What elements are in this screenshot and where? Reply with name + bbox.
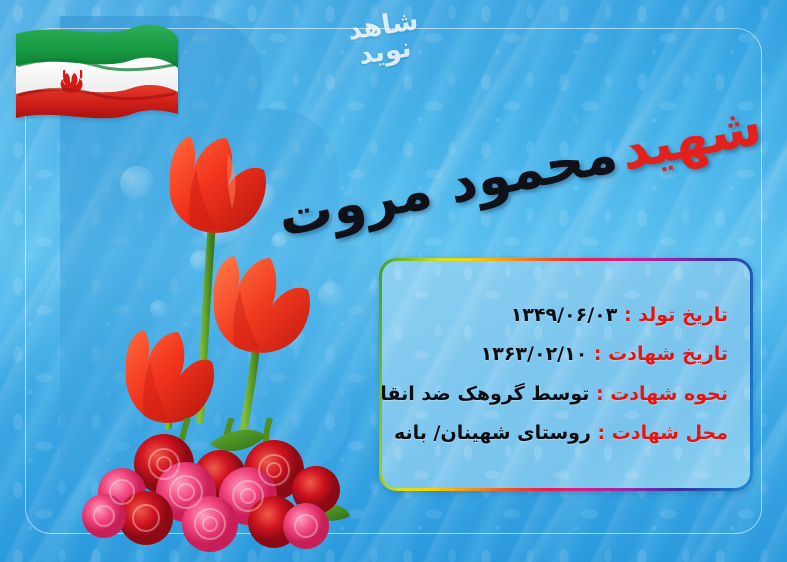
label-martyrdom-place: محل شهادت : [598,422,728,444]
info-row-birth-date: تاریخ تولد : ۱۳۴۹/۰۶/۰۳ [396,297,734,334]
info-row-martyrdom-date: تاریخ شهادت : ۱۳۶۳/۰۲/۱۰ [396,336,734,373]
iran-flag [10,18,180,123]
watermark-line-1: شاهد [317,2,458,99]
label-martyrdom-date: تاریخ شهادت : [594,343,728,365]
panel-light-sheen [382,261,750,488]
rose-bouquet [60,418,370,554]
value-birth-date: ۱۳۴۹/۰۶/۰۳ [511,304,618,326]
info-row-martyrdom-place: محل شهادت : روستای شهینان/ بانه [396,415,734,452]
red-tulips [108,130,338,430]
info-row-martyrdom-manner: نحوه شهادت : توسط گروهک ضد انقلاب [396,376,734,413]
label-martyrdom-manner: نحوه شهادت : [596,383,728,405]
panel-islamic-pattern [382,261,750,488]
value-martyrdom-manner: توسط گروهک ضد انقلاب [382,383,589,405]
label-birth-date: تاریخ تولد : [624,304,728,326]
martyr-info-panel: تاریخ تولد : ۱۳۴۹/۰۶/۰۳ تاریخ شهادت : ۱۳… [379,258,753,491]
watermark-line-2: نوید [319,28,456,100]
value-martyrdom-date: ۱۳۶۳/۰۲/۱۰ [481,343,588,365]
shahed-navid-watermark: شاهد نوید [322,12,452,90]
value-martyrdom-place: روستای شهینان/ بانه [394,422,591,444]
title-honorific: شهید [615,93,766,182]
memorial-poster: شاهد نوید [0,0,787,562]
